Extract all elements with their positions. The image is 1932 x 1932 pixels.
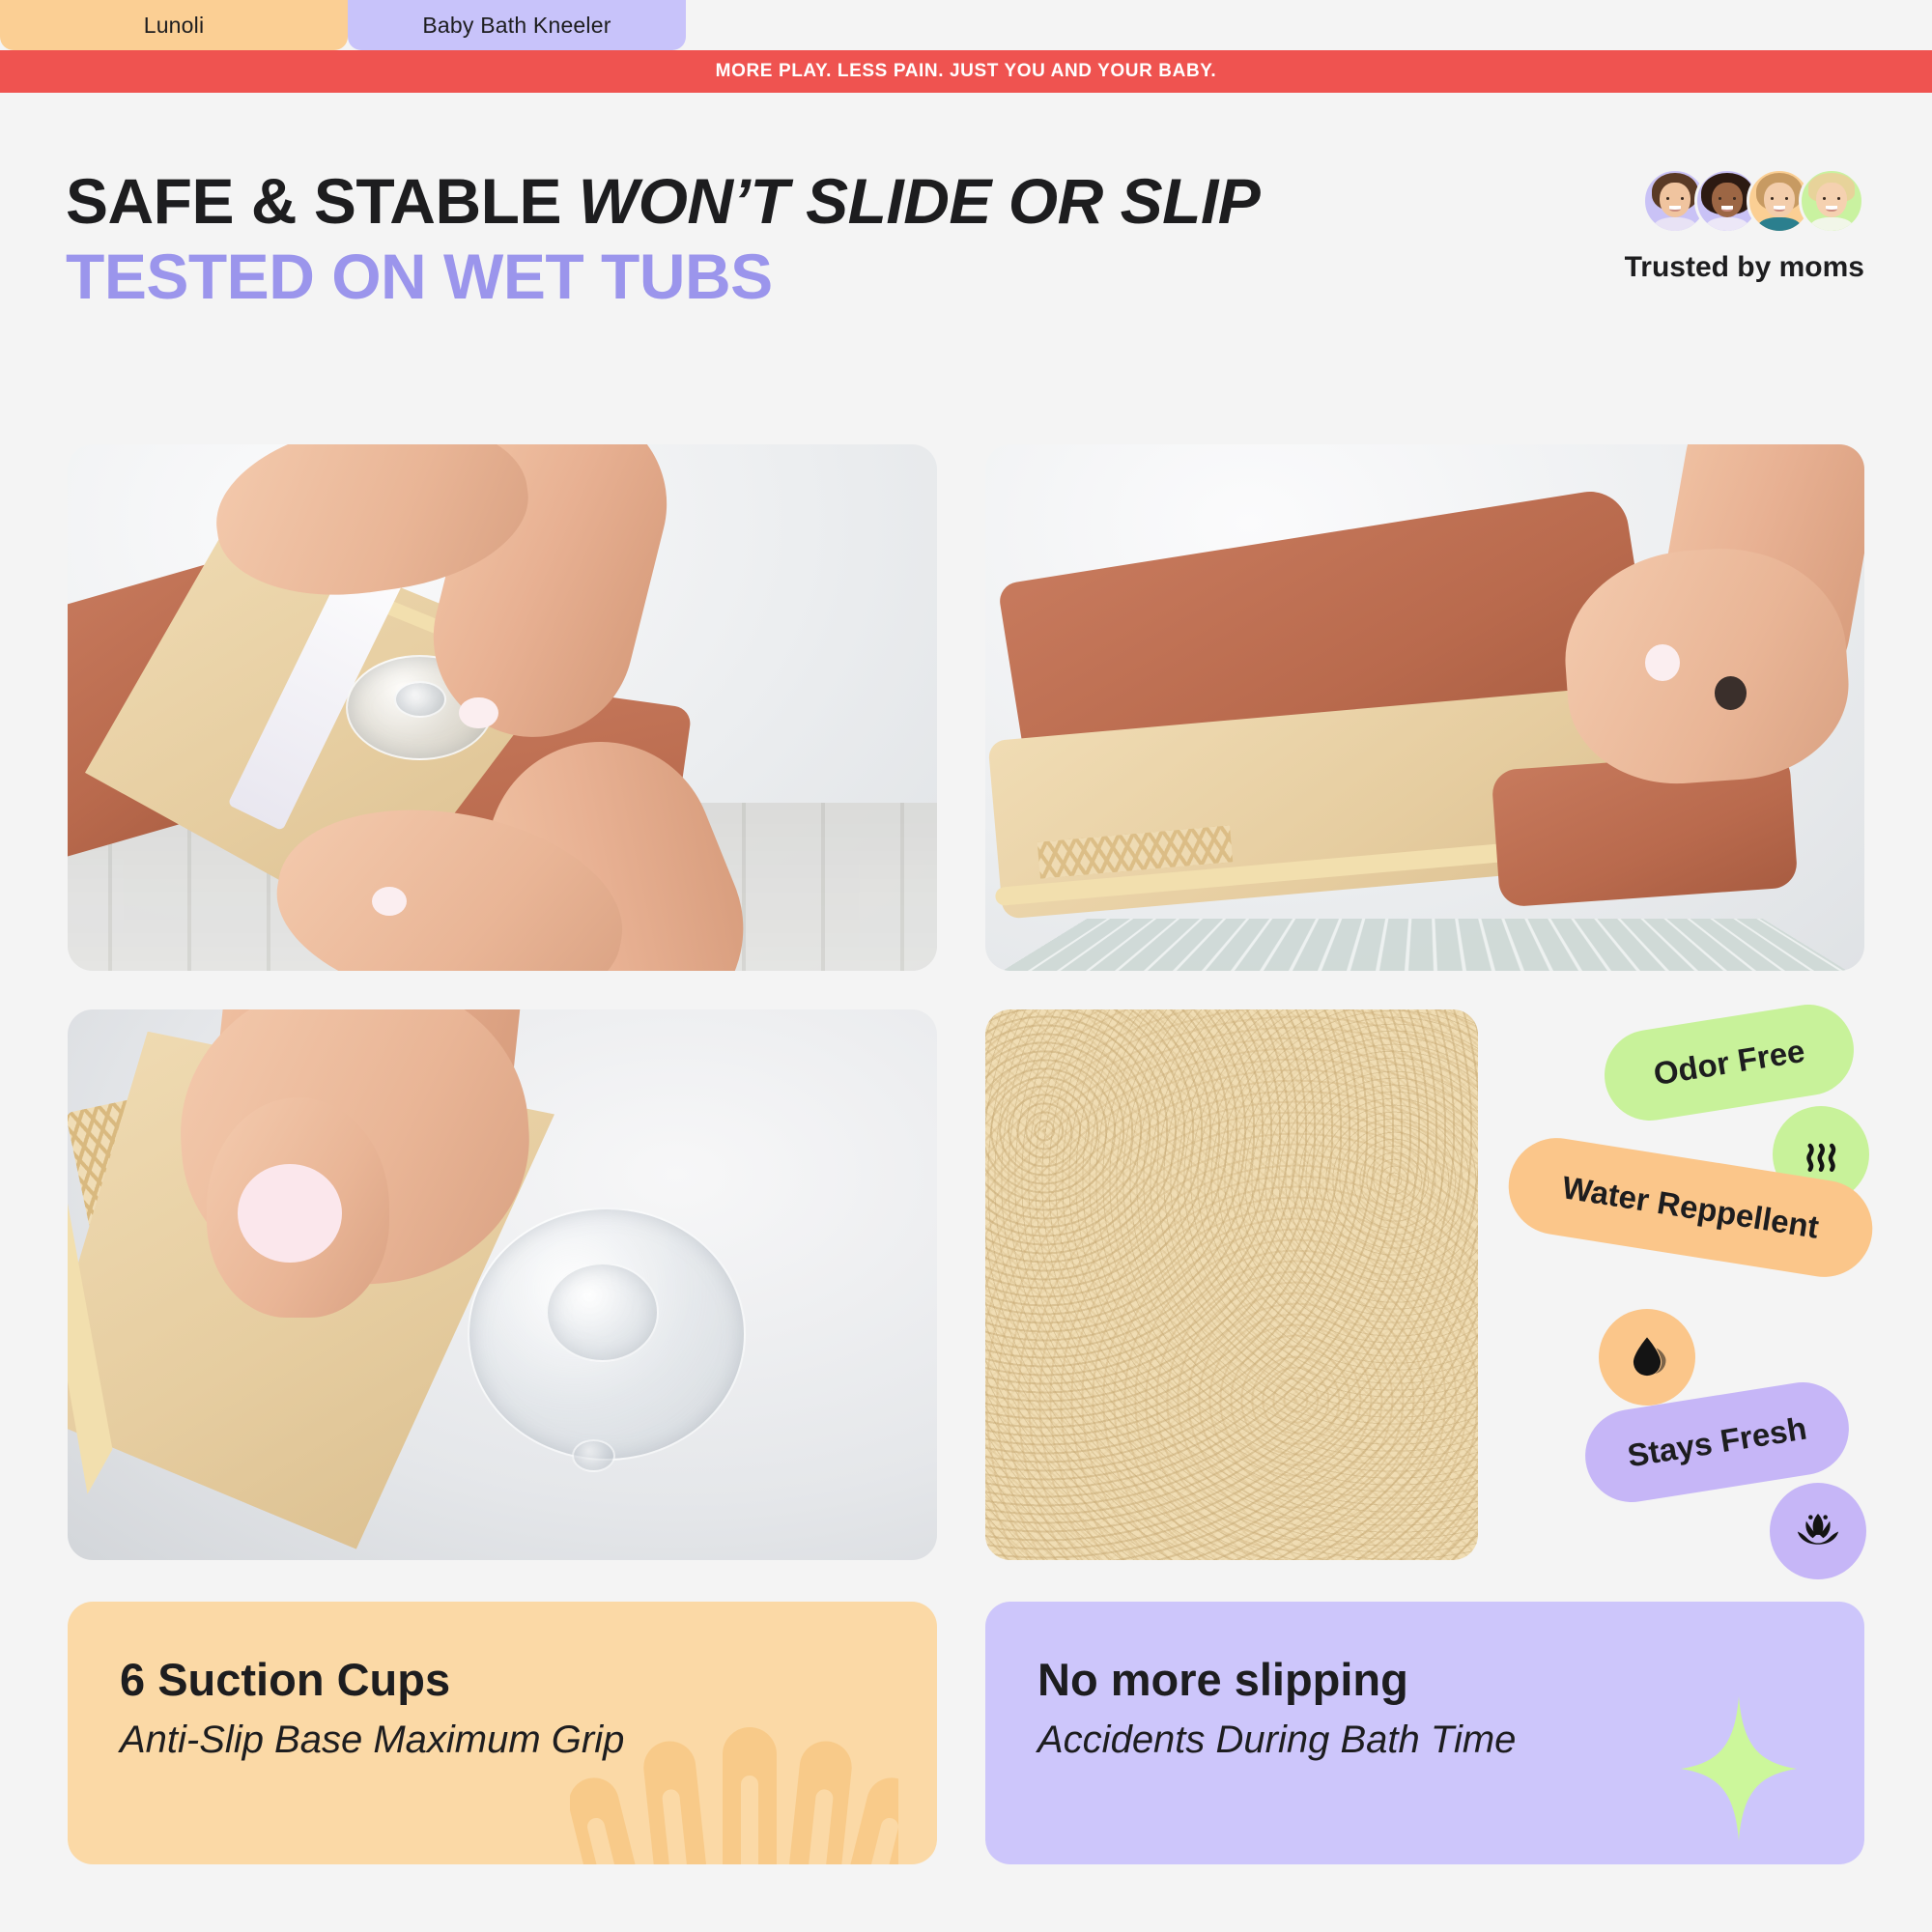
feature-card-no-slipping: No more slipping Accidents During Bath T…	[985, 1602, 1864, 1864]
headline-line-2: TESTED ON WET TUBS	[66, 240, 1515, 315]
feature-card-suction-cups: 6 Suction Cups Anti-Slip Base Maximum Gr…	[68, 1602, 937, 1864]
top-tab-bar: Lunoli Baby Bath Kneeler	[0, 0, 1932, 50]
photo-suction-closeup	[68, 1009, 937, 1560]
thumb-nail	[238, 1164, 342, 1264]
feature-card-suction-title: 6 Suction Cups	[120, 1656, 885, 1703]
photo-side-view	[985, 444, 1864, 971]
tab-brand[interactable]: Lunoli	[0, 0, 348, 50]
badge-stays-fresh-label: Stays Fresh	[1625, 1410, 1809, 1475]
fingernail	[1645, 644, 1680, 681]
fingernail	[459, 697, 498, 729]
photo-velcro-suction	[68, 444, 937, 971]
headline-plain-part: SAFE & STABLE	[66, 165, 579, 237]
trusted-by-moms-label: Trusted by moms	[1549, 251, 1868, 284]
feature-card-slip-subtitle: Accidents During Bath Time	[1037, 1719, 1812, 1762]
infographic-page: Lunoli Baby Bath Kneeler MORE PLAY. LESS…	[0, 0, 1932, 1932]
lotus-icon	[1770, 1483, 1866, 1579]
promo-banner-text: MORE PLAY. LESS PAIN. JUST YOU AND YOUR …	[716, 61, 1217, 82]
photo-foam-texture	[985, 1009, 1478, 1560]
headline-line-1: SAFE & STABLE WON’T SLIDE OR SLIP	[66, 164, 1515, 240]
headline-italic-part: WON’T SLIDE OR SLIP	[579, 165, 1261, 237]
trusted-by-moms-block: Trusted by moms	[1549, 166, 1868, 284]
benefit-badge-cluster: Odor Free Water Reppellent Stays Fresh	[1507, 1009, 1893, 1560]
badge-water-repellent-label: Water Reppellent	[1560, 1169, 1822, 1246]
feature-card-suction-subtitle: Anti-Slip Base Maximum Grip	[120, 1719, 885, 1762]
feature-card-slip-title: No more slipping	[1037, 1656, 1812, 1703]
water-drop-icon	[1599, 1309, 1695, 1406]
avatar-group	[1549, 166, 1868, 236]
tab-product-label: Baby Bath Kneeler	[422, 13, 611, 39]
mom-avatar-4	[1799, 168, 1864, 234]
promo-banner: MORE PLAY. LESS PAIN. JUST YOU AND YOUR …	[0, 50, 1932, 93]
badge-odor-free-label: Odor Free	[1651, 1033, 1807, 1093]
headline-block: SAFE & STABLE WON’T SLIDE OR SLIP TESTED…	[66, 164, 1515, 315]
tab-brand-label: Lunoli	[144, 13, 205, 39]
tab-product[interactable]: Baby Bath Kneeler	[348, 0, 686, 50]
